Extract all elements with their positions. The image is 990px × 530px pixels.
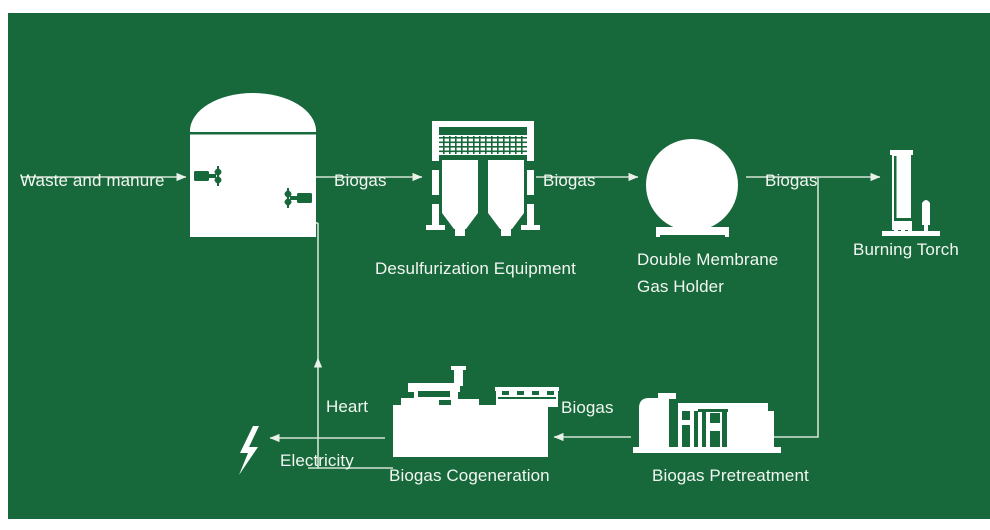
- diagram-panel: Waste and manure Biogas Biogas Biogas De…: [8, 13, 990, 519]
- flow-label-biogas-1: Biogas: [334, 168, 387, 194]
- node-caption-biogas-cogeneration: Biogas Cogeneration: [389, 463, 550, 489]
- flow-label-biogas-2: Biogas: [543, 168, 596, 194]
- flow-label-waste-and-manure: Waste and manure: [20, 168, 165, 194]
- diagram-canvas: Waste and manure Biogas Biogas Biogas De…: [0, 0, 990, 530]
- flow-label-electricity: Electricity: [280, 448, 354, 474]
- flow-label-biogas-3: Biogas: [765, 168, 818, 194]
- node-caption-burning-torch: Burning Torch: [853, 237, 959, 263]
- biogas-cogeneration-unit-icon[interactable]: [393, 366, 559, 457]
- desulfurization-tower-icon[interactable]: [426, 121, 540, 236]
- node-caption-double-membrane: Double Membrane: [637, 247, 778, 273]
- flow-label-biogas-4: Biogas: [561, 395, 614, 421]
- desulfurization-grid-icon: [436, 135, 530, 155]
- anaerobic-digester-tank-icon[interactable]: [190, 93, 316, 237]
- lightning-bolt-icon[interactable]: [239, 426, 259, 475]
- node-caption-desulfurization-equipment: Desulfurization Equipment: [375, 256, 576, 282]
- flow-label-heart: Heart: [326, 394, 368, 420]
- desulfurization-vessel-right-icon: [488, 160, 524, 236]
- spherical-gas-holder-icon[interactable]: [646, 139, 738, 237]
- biogas-pretreatment-skid-icon[interactable]: [633, 393, 781, 453]
- node-caption-biogas-pretreatment: Biogas Pretreatment: [652, 463, 809, 489]
- burning-torch-flare-icon[interactable]: [882, 150, 940, 236]
- desulfurization-vessel-left-icon: [442, 160, 478, 236]
- node-caption-gas-holder: Gas Holder: [637, 274, 724, 300]
